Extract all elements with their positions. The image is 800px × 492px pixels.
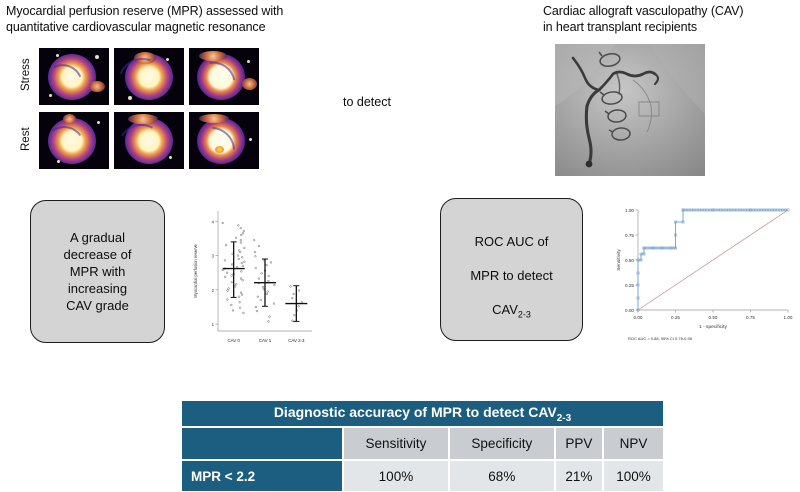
callout-roc-auc: ROC AUC of MPR to detect CAV2-3 (440, 198, 583, 341)
svg-text:Sensitivity: Sensitivity (616, 249, 622, 271)
heading-left-mpr: Myocardial perfusion reserve (MPR) asses… (6, 4, 336, 35)
table-cell-specificity: 68% (450, 461, 554, 491)
table-row-label-mpr-threshold: MPR < 2.2 (182, 461, 342, 491)
cmr-tile-rest-3 (189, 112, 259, 169)
table-col-sensitivity: Sensitivity (344, 428, 448, 459)
svg-text:Myocardial perfusion reserve: Myocardial perfusion reserve (193, 243, 198, 297)
svg-text:4: 4 (212, 219, 215, 224)
table-cell-npv: 100% (604, 461, 663, 491)
svg-text:0.75: 0.75 (625, 233, 634, 238)
cmr-tile-stress-2 (114, 48, 184, 105)
heading-right-cav: Cardiac allograft vasculopathy (CAV) in … (543, 4, 793, 35)
svg-text:1 - specificity: 1 - specificity (699, 324, 727, 330)
svg-text:CAV 2-3: CAV 2-3 (288, 338, 305, 343)
svg-text:1.00: 1.00 (784, 315, 793, 320)
table-col-npv: NPV (604, 428, 663, 459)
callout-mpr-decrease: A gradual decrease of MPR with increasin… (30, 200, 165, 343)
cmr-tile-stress-3 (189, 48, 259, 105)
callout-roc-line1: ROC AUC of (475, 234, 549, 249)
scatter-plot-mpr-by-cav: 1234Myocardial perfusion reserveCAV 0CAV… (188, 203, 316, 358)
svg-text:1: 1 (212, 322, 215, 327)
cmr-tile-stress-1 (39, 48, 109, 105)
table-title-subscript: 2-3 (557, 412, 571, 423)
callout-roc-subscript: 2-3 (518, 309, 531, 319)
perfusion-row-label-rest: Rest (20, 113, 32, 165)
table-title-text: Diagnostic accuracy of MPR to detect CAV (274, 404, 557, 420)
svg-text:0.75: 0.75 (746, 315, 755, 320)
coronary-angiogram-image (555, 44, 705, 176)
graphical-abstract: Myocardial perfusion reserve (MPR) asses… (0, 0, 800, 492)
svg-text:0.00: 0.00 (625, 308, 634, 313)
svg-text:CAV 1: CAV 1 (259, 338, 272, 343)
svg-text:3: 3 (212, 254, 215, 259)
table-col-ppv: PPV (556, 428, 602, 459)
svg-text:0.25: 0.25 (671, 315, 680, 320)
table-title-cell: Diagnostic accuracy of MPR to detect CAV… (182, 401, 663, 426)
table-cell-sensitivity: 100% (344, 461, 448, 491)
callout-roc-line2: MPR to detect (470, 268, 552, 283)
diagnostic-accuracy-table: Diagnostic accuracy of MPR to detect CAV… (180, 399, 665, 492)
svg-text:2: 2 (212, 288, 215, 293)
svg-text:1.00: 1.00 (625, 208, 634, 213)
cmr-tile-rest-1 (39, 112, 109, 169)
svg-text:ROC AUC = 0.88, 95% CI 0.78-0.: ROC AUC = 0.88, 95% CI 0.78-0.98 (628, 336, 693, 341)
svg-text:0.25: 0.25 (625, 283, 634, 288)
connector-to-detect-label: to detect (343, 95, 391, 109)
svg-text:CAV 0: CAV 0 (227, 338, 240, 343)
callout-roc-line3: CAV (492, 302, 518, 317)
roc-curve-plot: 0.000.250.500.751.000.000.250.500.751.00… (608, 200, 800, 348)
table-title-row: Diagnostic accuracy of MPR to detect CAV… (182, 401, 663, 426)
table-corner-cell (182, 428, 342, 459)
svg-text:0.50: 0.50 (709, 315, 718, 320)
cmr-tile-rest-2 (114, 112, 184, 169)
table-cell-ppv: 21% (556, 461, 602, 491)
table-col-specificity: Specificity (450, 428, 554, 459)
perfusion-row-label-stress: Stress (20, 49, 32, 101)
svg-text:0.50: 0.50 (625, 258, 634, 263)
svg-text:0.00: 0.00 (634, 315, 643, 320)
table-row: MPR < 2.2 100% 68% 21% 100% (182, 461, 663, 491)
table-header-row: Sensitivity Specificity PPV NPV (182, 428, 663, 459)
